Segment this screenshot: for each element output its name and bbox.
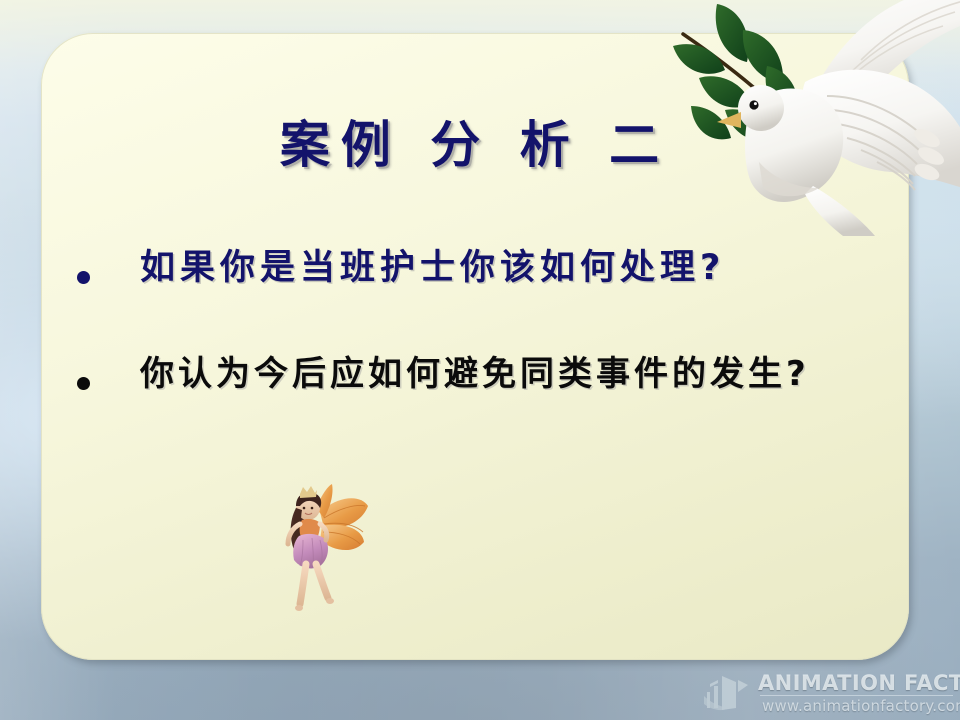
- filmstrip-logo-icon: [704, 672, 758, 714]
- watermark-brand: ANIMATION FACTORY: [758, 671, 960, 695]
- watermark: ANIMATION FACTORY www.animationfactory.c…: [700, 668, 958, 720]
- bullet-text-2: 你认为今后应如何避免同类事件的发生?: [140, 353, 810, 396]
- slide-title: 案例 分 析 二: [41, 105, 909, 177]
- content-panel: 案例 分 析 二 如果你是当班护士你该如何处理? 你认为今后应如何避免同类事件的…: [41, 33, 909, 660]
- bullet-text-1: 如果你是当班护士你该如何处理?: [140, 247, 725, 291]
- watermark-divider: [760, 695, 953, 696]
- bullet-list: 如果你是当班护士你该如何处理? 你认为今后应如何避免同类事件的发生?: [41, 247, 909, 457]
- watermark-url: www.animationfactory.com: [762, 697, 960, 715]
- bullet-item-2: 你认为今后应如何避免同类事件的发生?: [41, 353, 909, 396]
- bullet-marker-icon: [77, 377, 90, 390]
- bullet-item-1: 如果你是当班护士你该如何处理?: [41, 247, 909, 291]
- bullet-marker-icon: [77, 271, 90, 284]
- presentation-slide: 案例 分 析 二 如果你是当班护士你该如何处理? 你认为今后应如何避免同类事件的…: [0, 0, 960, 720]
